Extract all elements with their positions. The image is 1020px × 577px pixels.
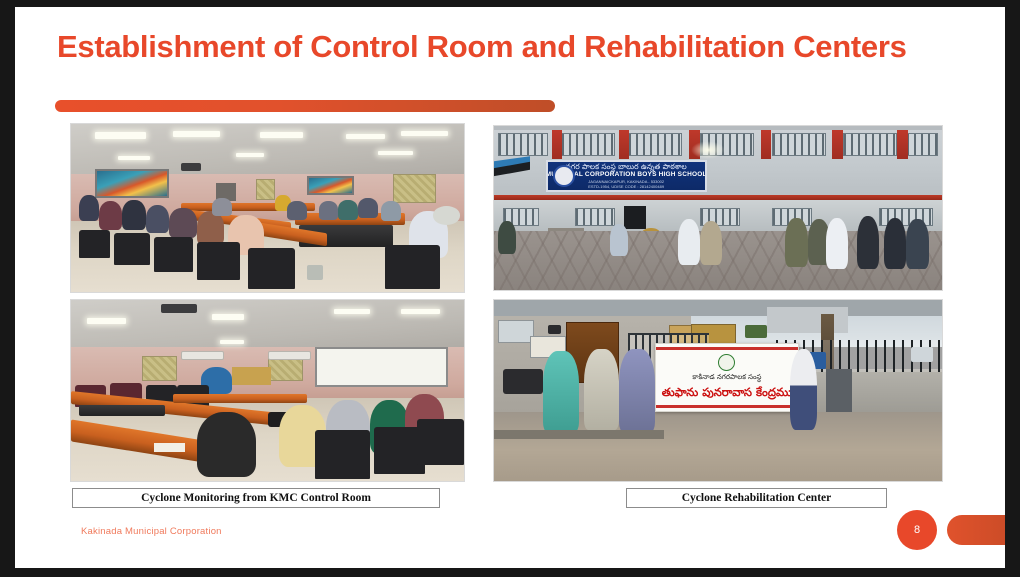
wall-panel [256,179,276,199]
ceiling-projector [181,163,201,171]
pillar [832,129,843,159]
motorcycle [503,369,543,394]
person [99,201,123,230]
ceiling-light [401,131,448,136]
banner-telugu-small: కాకినాడ నగరపాలక సంస్థ [692,373,761,383]
photo-control-room-monitoring [70,123,465,293]
drain-edge [494,430,664,439]
ceiling-light [401,309,440,314]
municipal-emblem-icon [718,354,735,371]
ceiling-projector [161,304,196,313]
page-title: Establishment of Control Room and Rehabi… [57,29,957,65]
person [381,201,401,221]
cctv-camera [548,325,561,334]
person [169,208,197,238]
pillar [619,129,629,159]
person [826,218,848,269]
title-accent-bar [55,100,555,112]
wall-panel [393,174,436,203]
wall-panel [268,356,303,381]
caption-rehabilitation-center: Cyclone Rehabilitation Center [626,488,887,508]
ceiling-light [212,314,243,319]
school-sign-telugu: నగర పాలక సంస్థ బాలుర ఉన్నత పాఠశాల [566,163,687,171]
office-chair [197,242,240,281]
person [857,216,879,268]
pedestal-fan [433,206,461,224]
roof-slab [494,300,942,316]
school-sign-estd: ESTD-1954, UDISE CODE : 28142400489 [588,184,664,189]
water-flask [307,265,323,280]
ceiling-light [334,309,369,314]
person [319,201,339,219]
school-emblem-icon [553,165,575,187]
roof-edge [494,126,942,130]
person [610,224,628,255]
air-conditioner [268,351,311,360]
chair-wooden [252,367,272,385]
air-conditioner [181,351,224,360]
presentation-viewport: Establishment of Control Room and Rehabi… [0,0,1020,577]
office-chair [79,230,110,259]
ceiling-light [118,156,149,160]
paper-document [154,443,185,452]
pillar [761,129,772,159]
person [543,351,579,432]
person [358,198,378,218]
pillar [897,129,908,159]
ceiling-light [87,318,126,323]
person-tying-banner [790,349,817,430]
window [628,133,682,156]
projection-screen [315,347,449,387]
projection-screen-cyclone [95,169,170,198]
rehabilitation-centre-banner: కాకినాడ నగరపాలక సంస్థ తుఫాను పునరావాస కే… [655,343,798,412]
window [561,133,615,156]
person [212,198,232,216]
photo-school-rehabilitation-shelter: నగర పాలక సంస్థ బాలుర ఉన్నత పాఠశాల MUNICI… [493,125,943,291]
ceiling-light [260,132,303,138]
window [498,133,547,156]
person [498,221,516,254]
page-number-badge: 8 [897,510,937,550]
person [584,349,620,430]
office-chair [248,248,295,288]
office-chair [114,233,149,265]
entrance-door [624,206,646,229]
person [700,221,722,265]
person [906,219,928,268]
person [785,218,807,267]
office-chair [154,237,193,272]
wall-display-cyclone [307,176,354,194]
ceiling-light [378,151,413,155]
office-chair [315,430,370,479]
person [884,218,906,269]
window [906,133,937,156]
person [197,412,256,477]
wall-panel [142,356,177,381]
window [772,133,826,156]
distant-building [767,307,848,332]
window [575,208,615,226]
person [619,349,655,432]
person [287,201,307,219]
ceiling-light [220,340,244,345]
window [843,133,897,156]
ceiling-light [236,153,264,157]
footer-organisation: Kakinada Municipal Corporation [81,526,222,537]
office-chair [417,419,464,464]
pillar [552,129,562,159]
photo-control-room-briefing [70,299,465,482]
banner-telugu-large: తుఫాను పునరావాస కేంద్రము [662,385,792,402]
slide-canvas: Establishment of Control Room and Rehabi… [15,7,1005,568]
person [678,219,700,265]
school-name-board: నగర పాలక సంస్థ బాలుర ఉన్నత పాఠశాల MUNICI… [546,160,707,191]
footer-accent-bar [947,515,1005,545]
person [338,200,358,220]
ceiling-light [173,131,220,138]
lens-flare [691,141,725,159]
ceiling-light [95,132,146,139]
water-tank [911,347,933,361]
signal-box [745,325,767,338]
photo-rehabilitation-centre-banner: కాకినాడ నగరపాలక సంస్థ తుఫాను పునరావాస కే… [493,299,943,482]
person [146,205,170,234]
office-chair [385,245,440,289]
red-band [494,195,942,200]
person [197,211,225,245]
conference-desk [173,394,307,403]
person [79,195,99,222]
equipment-row [79,405,165,416]
caption-control-room: Cyclone Monitoring from KMC Control Room [72,488,440,508]
person [122,200,146,230]
ceiling-light [346,134,385,139]
